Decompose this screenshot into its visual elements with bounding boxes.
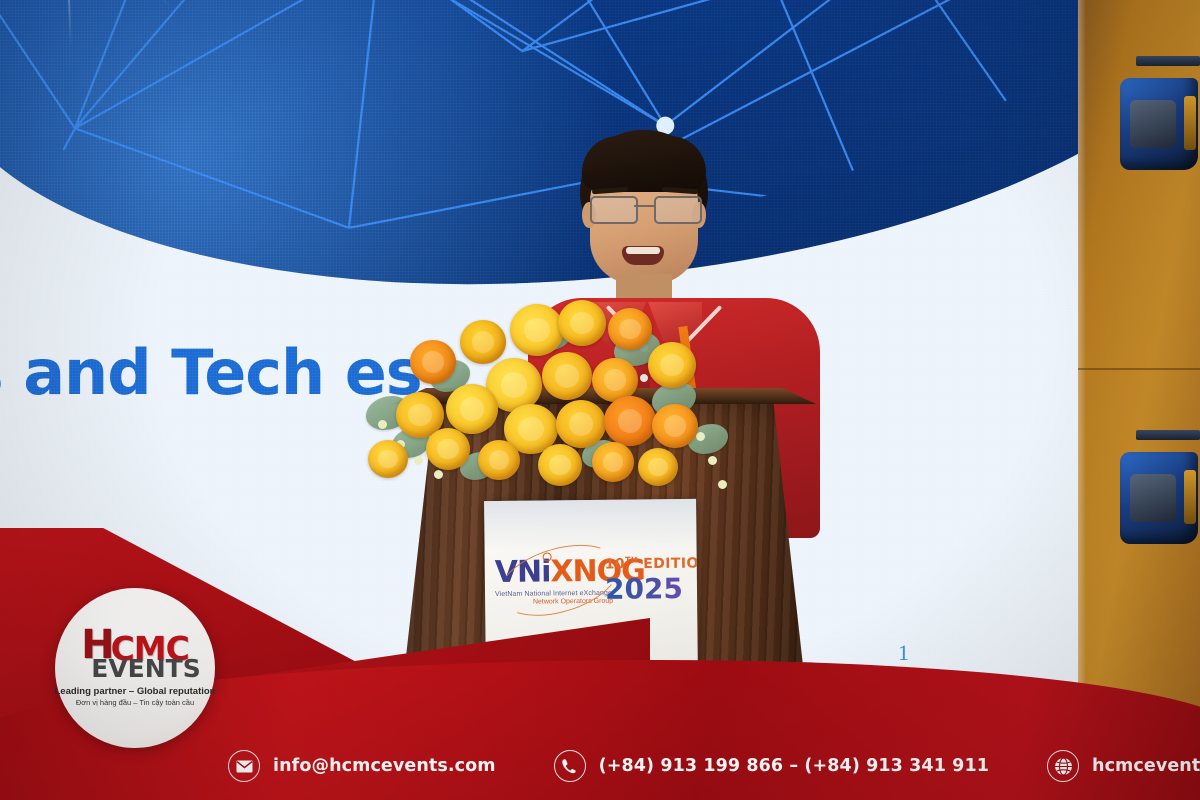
edition-block: 10TH EDITION 2025: [605, 555, 698, 606]
footer-contact-row: info@hcmcevents.com (+84) 913 199 866 – …: [0, 746, 1200, 786]
logo-dot-icon: [543, 552, 552, 561]
truss-bar-upper: [1136, 56, 1200, 66]
contact-phone[interactable]: (+84) 913 199 866 – (+84) 913 341 911: [554, 750, 989, 782]
stage-side-wall: [1078, 0, 1200, 740]
contact-website[interactable]: hcmcevents.com: [1047, 750, 1200, 782]
hcmc-events-logo-badge[interactable]: H CMC EVENTS Leading partner – Global re…: [55, 588, 215, 748]
phone-icon: [554, 750, 586, 782]
edition-ordinal: TH: [625, 556, 638, 565]
flower-arrangement: [352, 300, 772, 515]
contact-email[interactable]: info@hcmcevents.com: [228, 750, 496, 782]
logo-tagline-en: Leading partner – Global reputation: [55, 686, 216, 697]
globe-icon: [1047, 750, 1079, 782]
slide-page-number: 1: [898, 640, 909, 666]
contact-email-text: info@hcmcevents.com: [273, 756, 496, 776]
email-icon: [228, 750, 260, 782]
contact-phone-text: (+84) 913 199 866 – (+84) 913 341 911: [599, 756, 989, 776]
logo-text-events: EVENTS: [91, 654, 201, 683]
contact-website-text: hcmcevents.com: [1092, 756, 1200, 776]
edition-word: EDITION: [638, 555, 698, 572]
edition-year: 2025: [605, 571, 698, 605]
truss-bar-lower: [1136, 430, 1200, 440]
event-photo: ons and Tech es /2025 1: [0, 0, 1200, 800]
edition-number: 10: [605, 556, 625, 572]
logo-tagline-vi: Đơn vị hàng đầu – Tin cậy toàn cầu: [76, 698, 194, 707]
speaker-glasses: [590, 196, 700, 220]
